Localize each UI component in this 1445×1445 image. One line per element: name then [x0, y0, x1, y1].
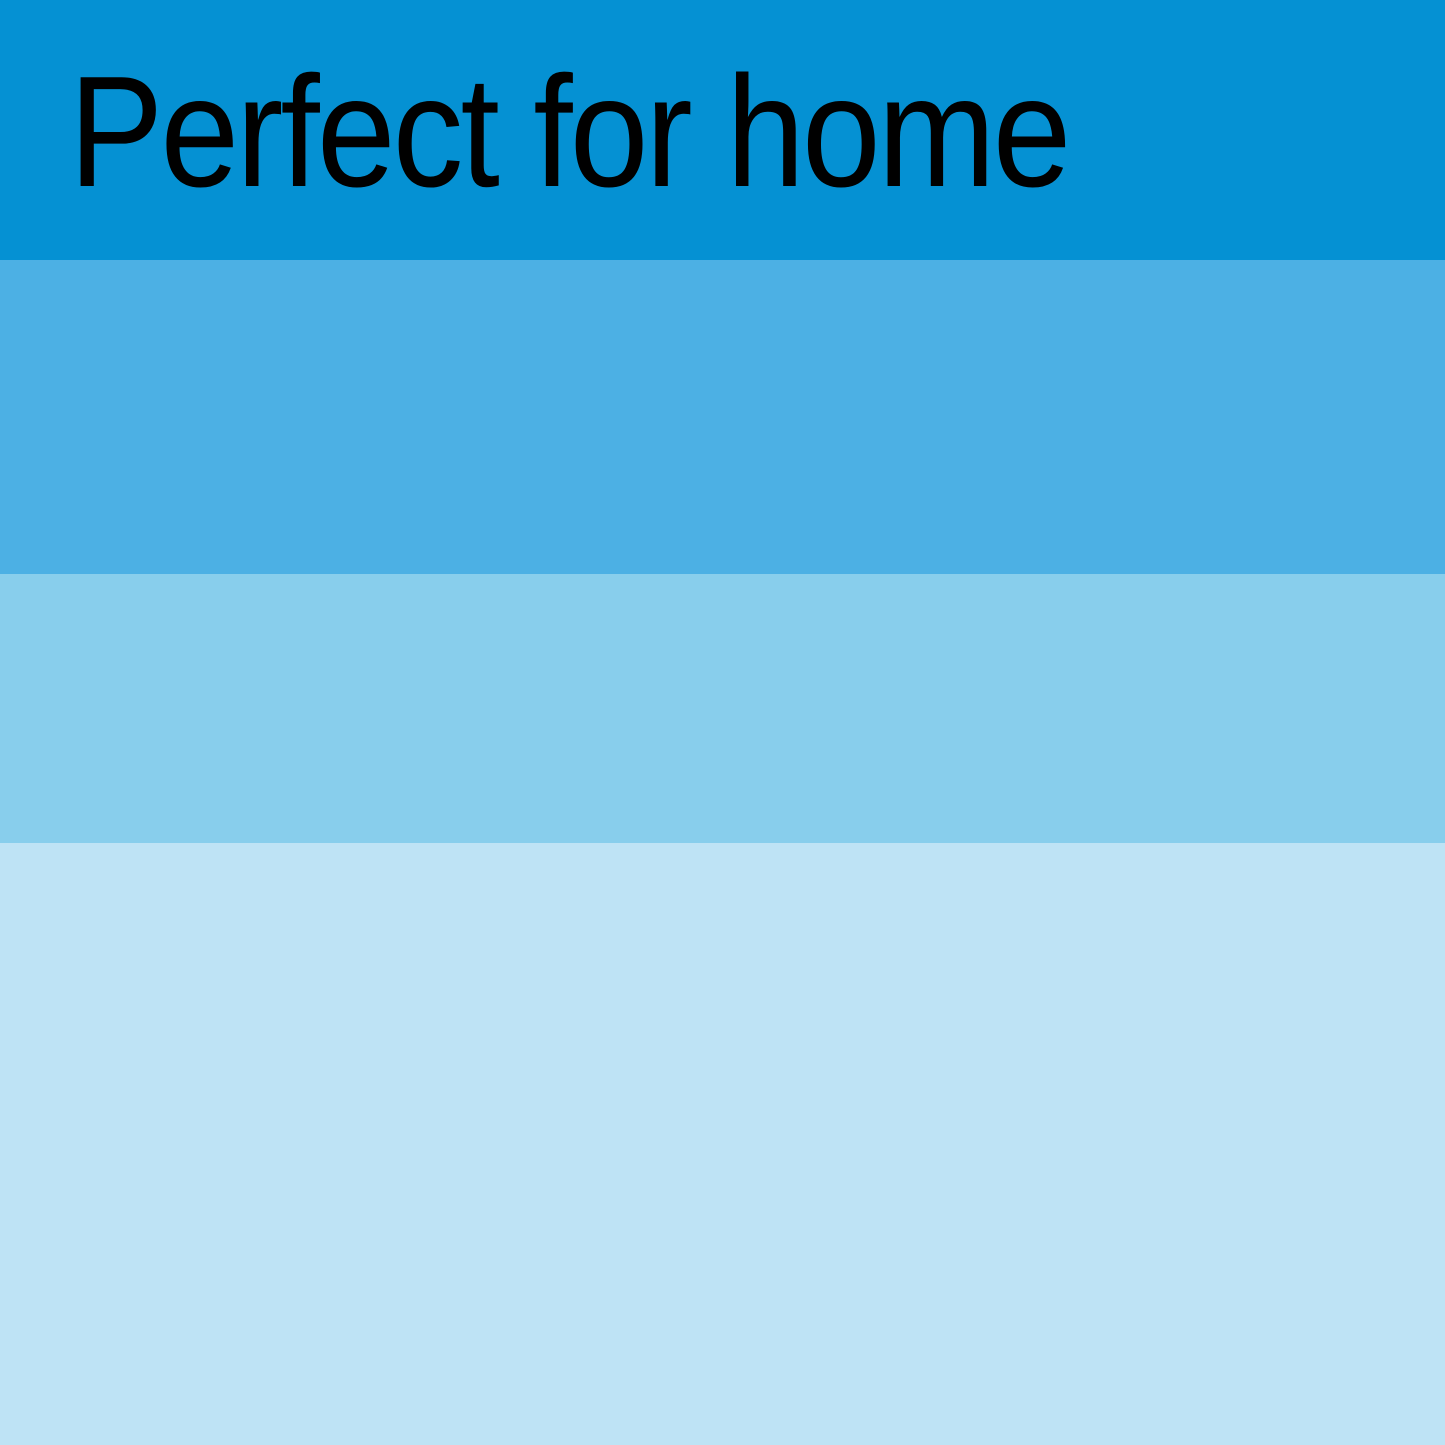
page-title: Perfect for home: [69, 53, 1069, 211]
primary-feature-band: Productive home printing, scanning and c…: [0, 260, 1445, 574]
product-feature-infographic: Perfect for home Productive home printin…: [0, 0, 1445, 1445]
secondary-feature-band: Documents, high-quality borderless photo…: [0, 574, 1445, 843]
headline-band: Perfect for home: [0, 0, 1445, 260]
volume-band: Ideal for 25-300+ pages/month: [0, 843, 1445, 1445]
